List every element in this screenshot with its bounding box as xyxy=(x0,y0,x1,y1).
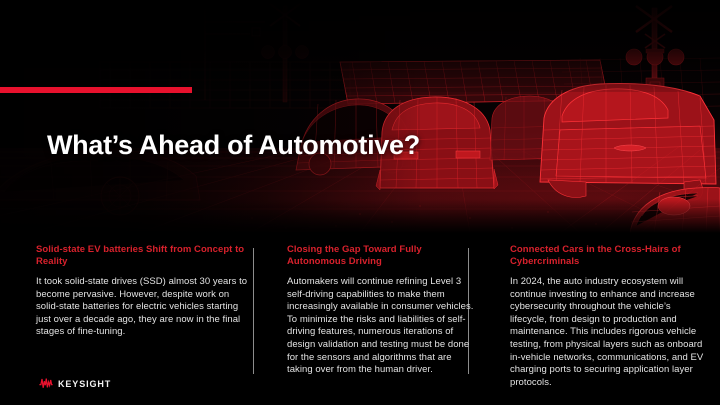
column-3-heading: Connected Cars in the Cross-Hairs of Cyb… xyxy=(510,244,710,267)
keysight-logo: KEYSIGHT xyxy=(39,378,111,389)
keysight-waveform-icon xyxy=(39,378,53,389)
wireframe-scene-illustration xyxy=(0,0,720,233)
page-title: What’s Ahead of Automotive? xyxy=(47,130,420,161)
content-column-1: Solid-state EV batteries Shift from Conc… xyxy=(36,244,254,339)
column-2-body: Automakers will continue refining Level … xyxy=(287,276,477,377)
pickup-truck-wireframe xyxy=(540,84,716,201)
hero-background-image xyxy=(0,0,720,233)
content-column-2: Closing the Gap Toward Fully Autonomous … xyxy=(287,244,477,377)
red-accent-bar xyxy=(0,87,192,93)
content-column-3: Connected Cars in the Cross-Hairs of Cyb… xyxy=(510,244,710,389)
content-columns: Solid-state EV batteries Shift from Conc… xyxy=(0,244,720,384)
column-1-body: It took solid-state drives (SSD) almost … xyxy=(36,276,254,339)
column-2-heading: Closing the Gap Toward Fully Autonomous … xyxy=(287,244,477,267)
keysight-logo-text: KEYSIGHT xyxy=(58,379,111,389)
slide: What’s Ahead of Automotive? Solid-state … xyxy=(0,0,720,405)
column-1-heading: Solid-state EV batteries Shift from Conc… xyxy=(36,244,254,267)
column-3-body: In 2024, the auto industry ecosystem wil… xyxy=(510,276,710,389)
